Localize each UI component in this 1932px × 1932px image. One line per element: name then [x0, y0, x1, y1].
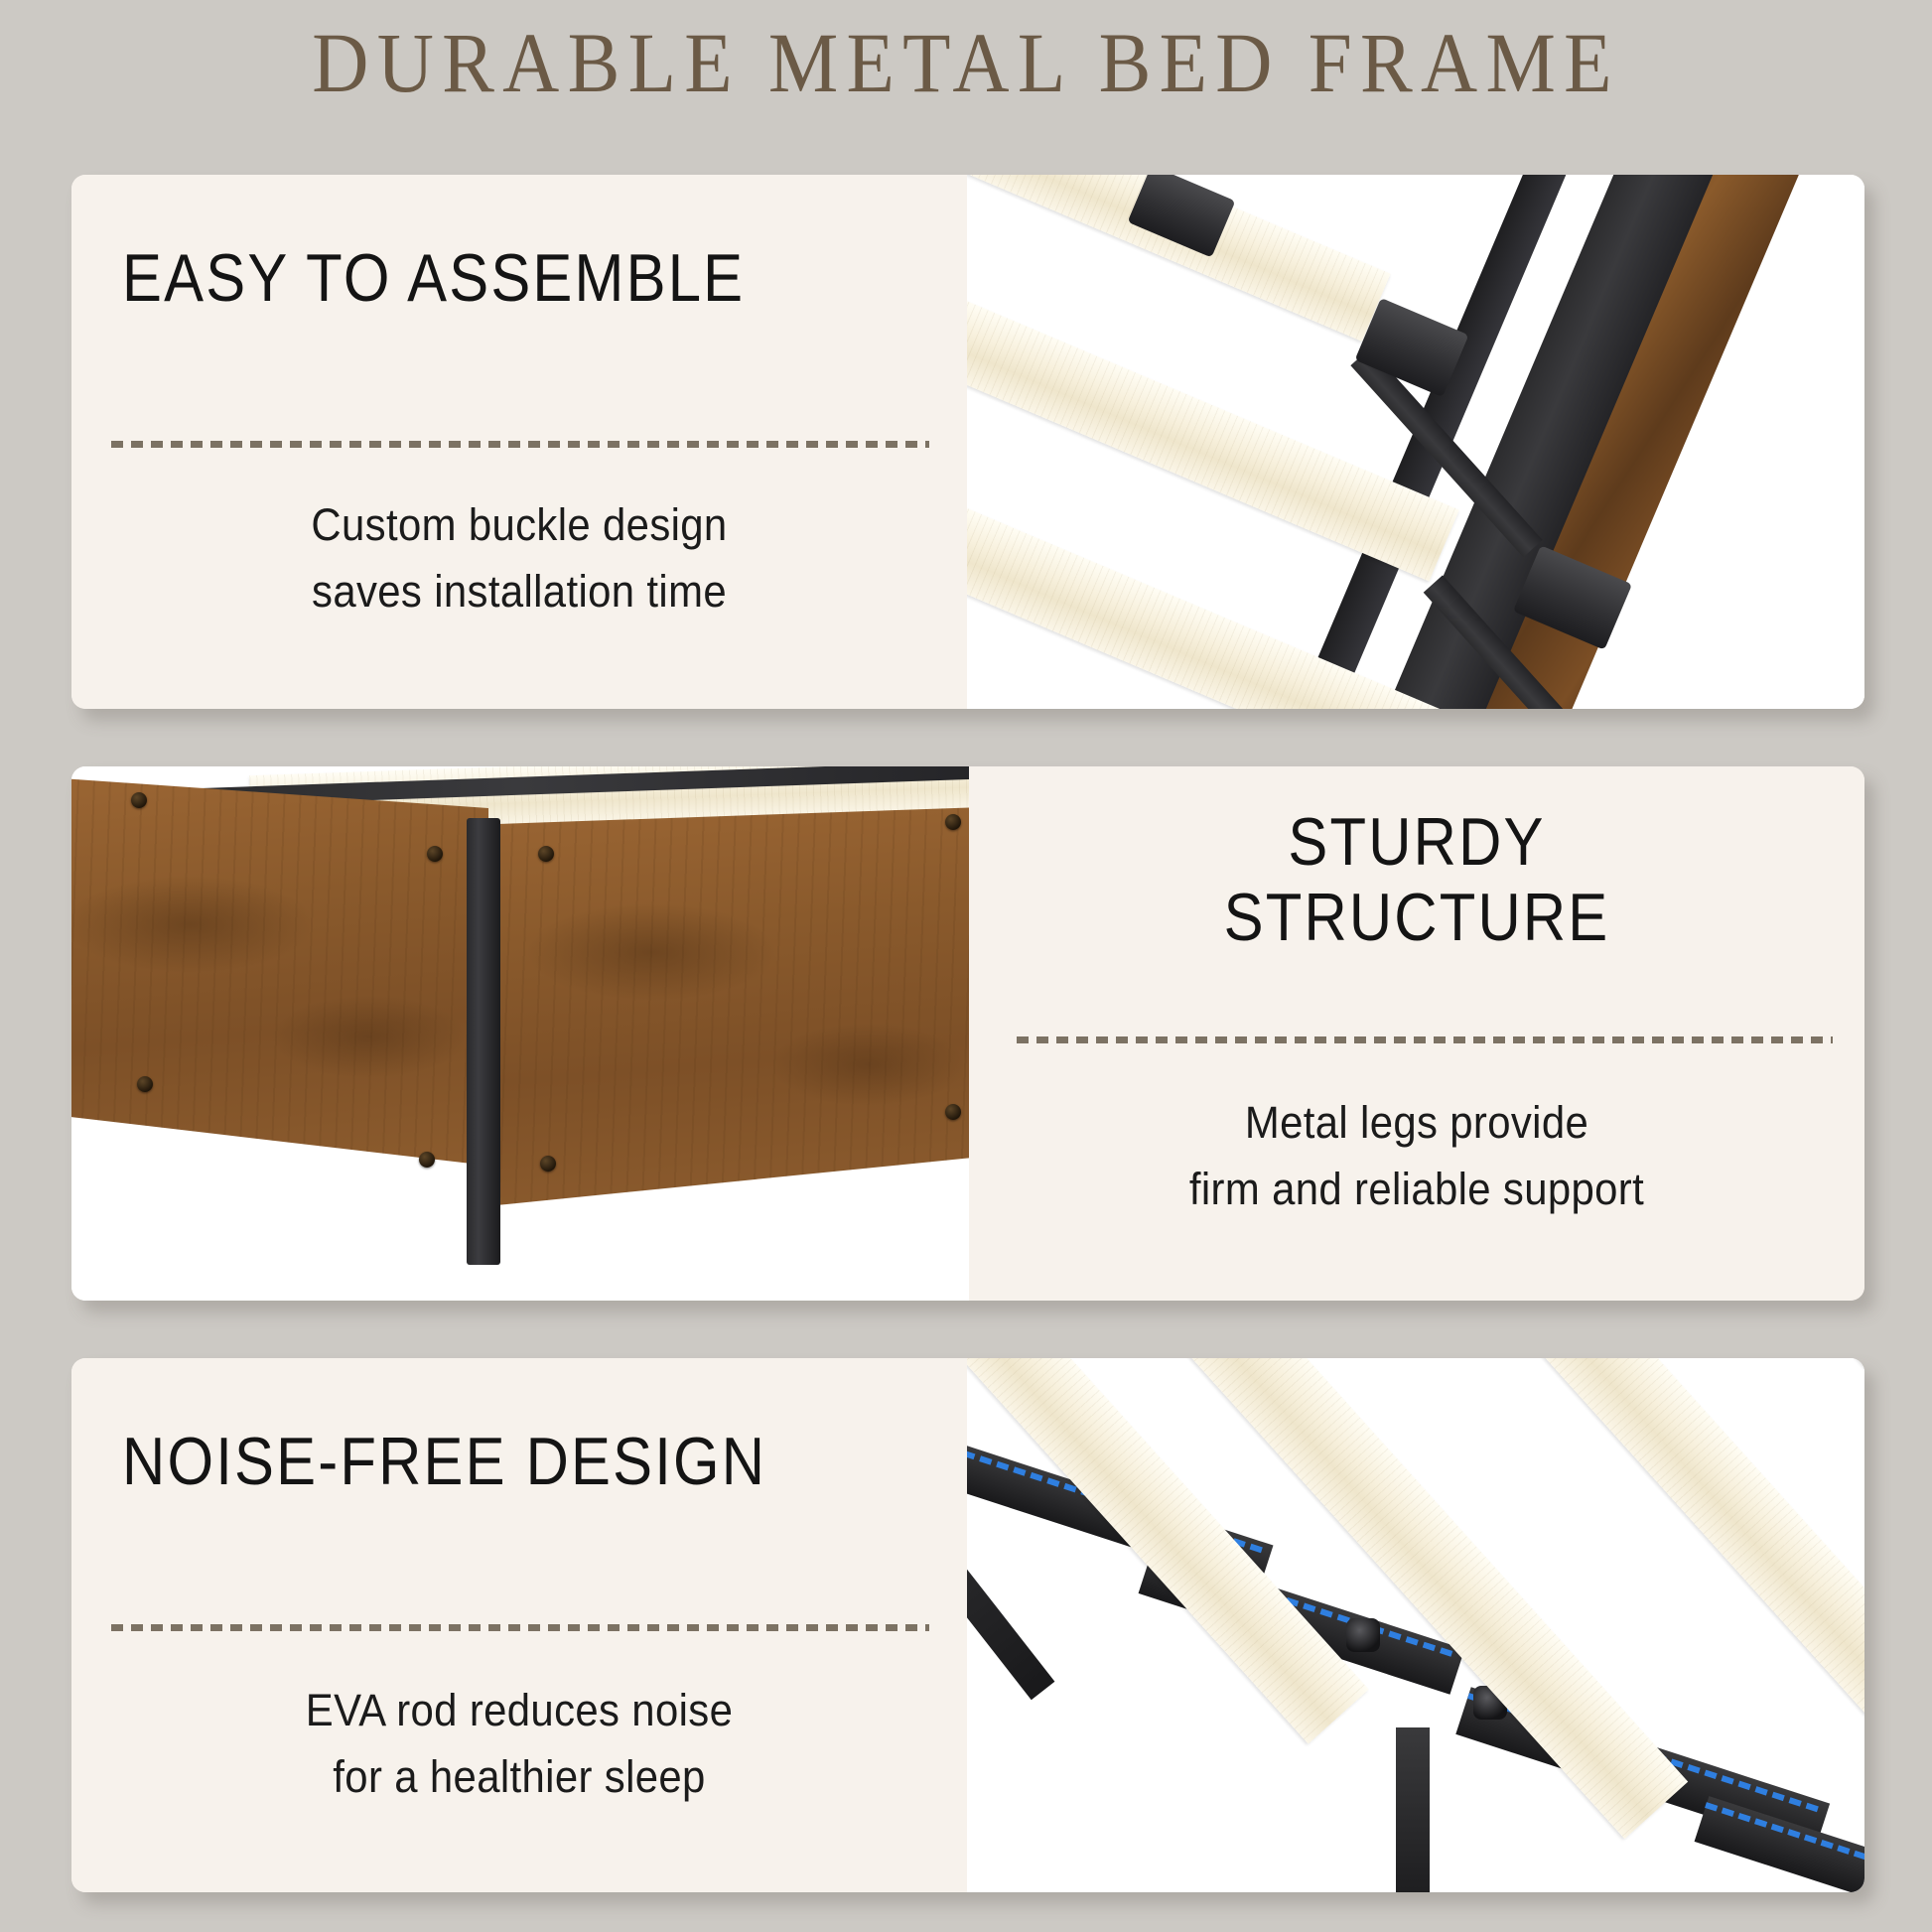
bolt-knob-1 — [1346, 1618, 1380, 1652]
feature-panel-easy-to-assemble: EASY TO ASSEMBLE Custom buckle design sa… — [71, 175, 1864, 709]
screw-7 — [540, 1156, 556, 1172]
panel-3-heading: NOISE-FREE DESIGN — [71, 1424, 860, 1499]
panel-1-image — [967, 175, 1864, 709]
eva-rod-photo — [967, 1358, 1864, 1892]
panel-1-body: Custom buckle design saves installation … — [103, 492, 936, 624]
panel-2-body-line-2: firm and reliable support — [1001, 1157, 1834, 1223]
screw-6 — [419, 1152, 435, 1168]
infographic-page: DURABLE METAL BED FRAME EASY TO ASSEMBLE… — [0, 0, 1932, 1932]
panel-1-body-line-1: Custom buckle design — [103, 492, 936, 559]
vertical-support-leg — [1396, 1727, 1430, 1892]
panel-3-image — [967, 1358, 1864, 1892]
panel-2-image — [71, 766, 969, 1301]
metal-corner-leg — [467, 818, 500, 1265]
screw-1 — [131, 792, 147, 808]
panel-2-heading: STURDY STRUCTURE — [1023, 804, 1811, 955]
panel-1-text-side: EASY TO ASSEMBLE Custom buckle design sa… — [71, 175, 967, 709]
panel-3-body-line-2: for a healthier sleep — [103, 1744, 936, 1811]
feature-panel-sturdy-structure: STURDY STRUCTURE Metal legs provide firm… — [71, 766, 1864, 1301]
screw-5 — [137, 1076, 153, 1092]
panel-2-divider — [1017, 1036, 1833, 1043]
panel-1-divider — [111, 441, 929, 448]
panel-2-body: Metal legs provide firm and reliable sup… — [1001, 1090, 1834, 1222]
screw-4 — [945, 814, 961, 830]
wood-face-right — [496, 806, 969, 1223]
panel-3-body-line-1: EVA rod reduces noise — [103, 1678, 936, 1744]
panel-2-text-side: STURDY STRUCTURE Metal legs provide firm… — [969, 766, 1864, 1301]
panel-2-heading-line-2: STRUCTURE — [1023, 880, 1811, 955]
screw-8 — [945, 1104, 961, 1120]
panel-3-text-side: NOISE-FREE DESIGN EVA rod reduces noise … — [71, 1358, 967, 1892]
page-title: DURABLE METAL BED FRAME — [77, 18, 1855, 107]
wood-corner-photo — [71, 766, 969, 1301]
panel-2-body-line-1: Metal legs provide — [1001, 1090, 1834, 1157]
screw-2 — [427, 846, 443, 862]
panel-3-body: EVA rod reduces noise for a healthier sl… — [103, 1678, 936, 1810]
slat-buckle-photo — [967, 175, 1864, 709]
feature-panel-noise-free-design: NOISE-FREE DESIGN EVA rod reduces noise … — [71, 1358, 1864, 1892]
panel-3-divider — [111, 1624, 929, 1631]
panel-1-body-line-2: saves installation time — [103, 559, 936, 625]
panel-1-heading: EASY TO ASSEMBLE — [71, 240, 860, 316]
panel-2-heading-line-1: STURDY — [1023, 804, 1811, 880]
wood-face-left — [71, 778, 488, 1195]
screw-3 — [538, 846, 554, 862]
